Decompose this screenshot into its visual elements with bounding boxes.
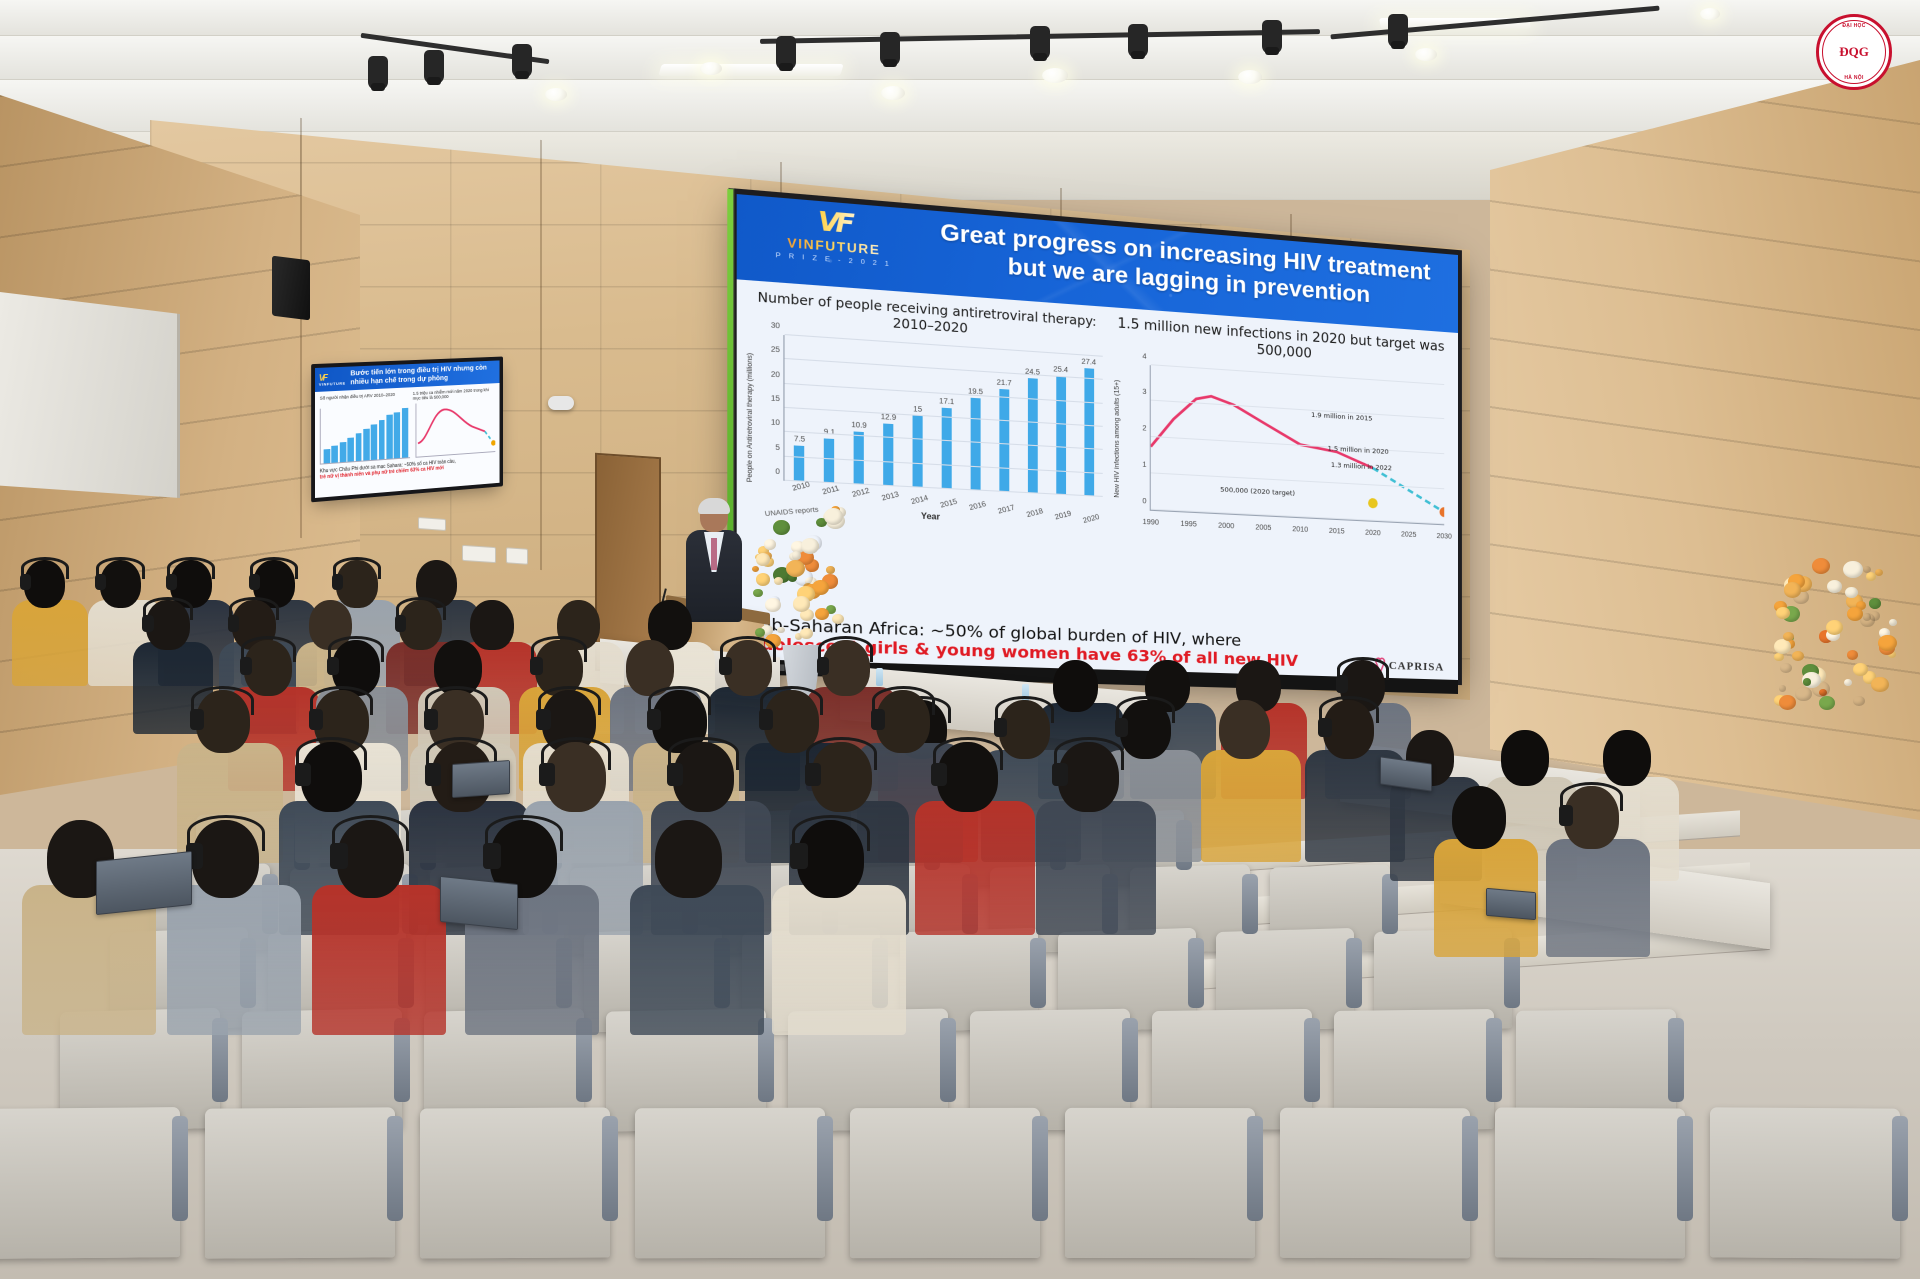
speaker-person <box>684 500 744 620</box>
flower <box>753 589 762 597</box>
flower <box>815 608 829 620</box>
bar-chart-value-label: 17.1 <box>939 398 954 406</box>
headset-earcup <box>536 709 550 730</box>
tv2-bar <box>379 420 385 460</box>
headset-earcup <box>332 574 343 590</box>
bar-chart-ytick: 30 <box>759 321 780 330</box>
headset-earcup <box>142 615 153 632</box>
tv2-vinfuture-logo: VF VINFUTURE <box>319 372 346 386</box>
flower <box>1827 580 1842 593</box>
bar-chart-xtick: 2020 <box>1082 514 1100 525</box>
flower <box>1792 651 1803 661</box>
audience-member-head <box>1053 660 1098 712</box>
line-chart-xtick: 2030 <box>1437 532 1452 540</box>
flower <box>774 577 783 585</box>
flower <box>777 627 784 633</box>
bar-chart-xtick: 2012 <box>851 488 870 500</box>
bar-chart-ytick: 0 <box>759 467 780 476</box>
headset-earcup <box>790 843 808 869</box>
bar-chart-value-label: 12.9 <box>881 414 896 422</box>
secondary-display: VF VINFUTURE Bước tiến lớn trong điều tr… <box>315 360 500 498</box>
bar-chart-ytick: 10 <box>759 419 780 428</box>
seat-armrest <box>1486 1018 1502 1102</box>
downlight <box>1415 48 1437 61</box>
headset-earcup <box>539 763 555 787</box>
flower <box>1869 611 1880 620</box>
flower <box>752 566 759 572</box>
audience-member-head <box>1501 730 1549 786</box>
headset-earcup <box>327 657 340 676</box>
headset-earcup <box>817 657 830 676</box>
flower <box>824 508 843 525</box>
spotlight <box>1262 20 1282 54</box>
tv2-bar <box>386 414 392 459</box>
headset-earcup <box>1336 675 1348 692</box>
line-chart-xtick: 2025 <box>1401 531 1416 539</box>
laptop[interactable] <box>96 851 192 915</box>
flower <box>1853 696 1865 706</box>
tv2-caption-left: Số người nhận điều trị ARV 2010–2020 <box>320 391 408 405</box>
line-chart-xtick: 2000 <box>1218 522 1234 530</box>
vinfuture-logo: VF VINFUTURE P R I Z E - 2 0 2 1 <box>765 203 903 269</box>
flower <box>1847 650 1859 660</box>
audience-member-torso <box>1201 750 1301 862</box>
headset-earcup <box>166 574 177 590</box>
bar-chart-value-label: 7.5 <box>794 435 805 443</box>
tv2-bar <box>324 449 330 463</box>
bar-chart-xtick: 2017 <box>997 504 1016 515</box>
flower <box>756 553 770 566</box>
line-chart-series <box>1151 392 1373 468</box>
audience-member-torso <box>915 801 1035 935</box>
seat-armrest <box>1346 938 1362 1008</box>
flower <box>1783 632 1794 642</box>
tv2-bar <box>402 408 408 458</box>
flower <box>765 598 781 612</box>
headset-earcup <box>530 657 543 676</box>
bar-chart-ytick: 25 <box>759 346 780 355</box>
lecture-hall-photo: ĐẠI HỌC ĐQG HÀ NỘI VF VINFUTURE P R I Z … <box>0 0 1920 1279</box>
laptop-screen <box>453 761 509 797</box>
spotlight <box>1128 24 1148 58</box>
headset-earcup <box>719 657 732 676</box>
whiteboard <box>0 292 180 498</box>
headset-earcup <box>395 615 406 632</box>
audience-member-torso <box>167 885 301 1035</box>
audience-member-head <box>1219 700 1270 759</box>
line-chart-xtick: 2010 <box>1292 525 1308 533</box>
line-chart-plot: 0123419901995200020052010201520202025203… <box>1150 365 1445 525</box>
tv2-bar <box>340 442 346 462</box>
downlight <box>545 88 567 101</box>
flower <box>1812 558 1830 574</box>
seat-armrest <box>172 1116 188 1221</box>
spotlight <box>1030 26 1050 60</box>
line-chart-xtick: 2005 <box>1255 524 1271 532</box>
bar-chart-xtick: 2011 <box>822 485 841 497</box>
laptop-screen <box>441 877 517 929</box>
seat[interactable] <box>0 1107 180 1259</box>
bar-chart-xtick: 2016 <box>968 501 987 513</box>
headset-earcup <box>1115 718 1128 738</box>
spotlight <box>512 44 532 78</box>
tv2-bar-chart <box>320 404 410 465</box>
headset-earcup <box>805 763 821 787</box>
headset-earcup <box>647 709 661 730</box>
laptop[interactable] <box>440 876 518 930</box>
flower <box>764 539 776 550</box>
headset-earcup <box>871 709 885 730</box>
university-logo: ĐẠI HỌC ĐQG HÀ NỘI <box>1816 14 1892 90</box>
wall-outlet <box>506 547 528 565</box>
tv2-bar <box>347 438 353 462</box>
downlight <box>700 62 722 75</box>
bar-chart-xtick: 2010 <box>791 481 811 493</box>
flower <box>1844 679 1852 686</box>
laptop[interactable] <box>1486 888 1536 920</box>
flower <box>1779 685 1786 691</box>
bar-chart-xtick: 2015 <box>939 498 958 510</box>
laptop-screen <box>1487 889 1535 919</box>
caprisa-label: CAPRISA <box>1389 660 1444 674</box>
seat-armrest <box>602 1116 618 1221</box>
wall-outlet <box>462 545 496 563</box>
seat-armrest <box>1677 1116 1693 1221</box>
spotlight <box>1388 14 1408 48</box>
headset-earcup <box>20 574 31 590</box>
downlight <box>1042 68 1068 83</box>
bar-chart-xtick: 2013 <box>881 491 900 503</box>
audience-member-head <box>1452 786 1506 849</box>
bar-chart-ytick: 5 <box>759 443 780 452</box>
tv2-bar <box>371 424 377 460</box>
headset-earcup <box>994 718 1007 738</box>
headset-earcup <box>1318 718 1331 738</box>
line-chart-target-marker <box>1368 497 1378 508</box>
audience-member-torso <box>630 885 764 1035</box>
audience-member-torso <box>12 600 88 686</box>
downlight <box>1238 70 1262 84</box>
flower <box>773 520 790 535</box>
bar-chart-xtick: 2018 <box>1026 507 1045 518</box>
tv2-caption-right: 1.5 triệu ca nhiễm mới năm 2020 trong kh… <box>413 387 496 401</box>
flower <box>1819 696 1835 710</box>
tv2-brand-sub: VINFUTURE <box>319 381 346 386</box>
flower <box>755 628 765 637</box>
flower <box>1889 619 1897 626</box>
flower <box>1779 695 1796 710</box>
seat-armrest <box>1304 1018 1320 1102</box>
seat[interactable] <box>1495 1108 1685 1259</box>
line-chart-xtick: 1990 <box>1142 518 1159 526</box>
downlight <box>1700 8 1720 20</box>
seat-armrest <box>1382 874 1398 934</box>
seat-armrest <box>1188 938 1204 1008</box>
audience-member-torso <box>312 885 446 1035</box>
seat[interactable] <box>420 1108 610 1259</box>
headset-earcup <box>190 709 204 730</box>
bar-chart-value-label: 27.4 <box>1081 358 1096 366</box>
seat-armrest <box>1462 1116 1478 1221</box>
flower <box>826 566 834 573</box>
line-chart-target-marker <box>1440 506 1445 516</box>
line-chart-ytick: 4 <box>1132 352 1147 360</box>
spotlight <box>368 56 388 90</box>
audience-member-head <box>470 600 513 650</box>
tv2-bar <box>363 429 369 460</box>
bar-chart-xtick: 2014 <box>910 494 929 506</box>
flower <box>1780 663 1792 674</box>
tv2-bar <box>332 446 338 463</box>
bar-chart-ytick: 20 <box>759 370 780 379</box>
bar-chart-xlabel: Year <box>921 511 940 522</box>
university-logo-bottom-text: HÀ NỘI <box>1816 75 1892 81</box>
audience-member-torso <box>1036 801 1156 935</box>
headset-earcup <box>1052 763 1068 787</box>
bar-chart-value-label: 15 <box>913 406 922 414</box>
seat[interactable] <box>635 1108 825 1259</box>
headset-earcup <box>931 763 947 787</box>
seat[interactable] <box>1065 1108 1255 1258</box>
secondary-slide: VF VINFUTURE Bước tiến lớn trong điều tr… <box>315 360 500 498</box>
audience-member-head <box>655 820 722 898</box>
line-chart-xtick: 2020 <box>1365 529 1381 537</box>
seat-armrest <box>1892 1116 1908 1221</box>
flower <box>756 573 770 585</box>
ceiling-camera <box>548 396 574 410</box>
seat-armrest <box>817 1116 833 1221</box>
caprisa-logo: CAPRISA <box>1389 660 1444 674</box>
seat[interactable] <box>205 1107 395 1258</box>
flower <box>1795 687 1812 702</box>
headset-earcup <box>425 763 441 787</box>
wall-speaker <box>272 256 310 321</box>
laptop-screen <box>1381 757 1431 790</box>
flower <box>1843 561 1863 578</box>
tv2-bar <box>394 412 400 458</box>
flower <box>825 625 833 632</box>
flower <box>793 596 811 612</box>
seat[interactable] <box>1710 1107 1900 1258</box>
spotlight <box>776 36 796 70</box>
seat[interactable] <box>850 1108 1040 1258</box>
seat-armrest <box>1030 938 1046 1008</box>
headset-earcup <box>240 657 253 676</box>
downlight <box>881 86 905 100</box>
headset-earcup <box>228 615 239 632</box>
spotlight <box>880 32 900 66</box>
bar-chart-plot: 7.59.110.912.91517.119.521.724.525.427.4… <box>783 335 1102 497</box>
flower <box>1869 598 1881 609</box>
flower <box>1863 566 1871 573</box>
bar-chart-value-label: 25.4 <box>1053 366 1068 374</box>
line-chart-ytick: 2 <box>1132 424 1147 432</box>
seat-armrest <box>940 1018 956 1102</box>
bar-chart-value-label: 21.7 <box>997 379 1012 387</box>
audience-member-head <box>1603 730 1651 786</box>
flower-arrangement <box>1770 558 1900 748</box>
university-logo-center-text: ĐQG <box>1816 44 1892 60</box>
line-chart-ylabel: New HIV infections among adults (15+) <box>1113 371 1128 508</box>
spotlight <box>424 50 444 84</box>
headset-earcup <box>309 709 323 730</box>
flower <box>832 614 844 625</box>
headset-earcup <box>1559 805 1573 826</box>
line-chart-ytick: 0 <box>1132 497 1147 505</box>
flower <box>1784 582 1801 597</box>
audience-member-torso <box>1546 839 1650 957</box>
flower <box>1826 620 1843 635</box>
headset-earcup <box>759 709 773 730</box>
tv2-bar <box>355 433 361 461</box>
seat[interactable] <box>1280 1108 1470 1259</box>
tv2-line-chart <box>415 399 495 458</box>
seat-armrest <box>1242 874 1258 934</box>
seat-armrest <box>1668 1018 1684 1102</box>
laptop-screen <box>97 852 191 914</box>
headset-earcup <box>483 843 501 869</box>
line-chart-ytick: 1 <box>1132 461 1147 469</box>
seat-armrest <box>1032 1116 1048 1221</box>
headset-earcup <box>667 763 683 787</box>
line-chart-xtick: 2015 <box>1329 527 1345 535</box>
flower <box>1871 677 1889 692</box>
line-chart-series <box>1373 468 1444 512</box>
seat-armrest <box>387 1116 403 1221</box>
bar-chart-xtick: 2019 <box>1054 511 1072 522</box>
flower <box>1803 678 1812 686</box>
flower <box>1878 635 1897 651</box>
seat-armrest <box>1122 1018 1138 1102</box>
audience-member-torso <box>772 885 906 1035</box>
line-chart-ytick: 3 <box>1132 388 1147 396</box>
flower <box>786 560 805 577</box>
wall-outlet <box>418 517 446 531</box>
seat-armrest <box>1247 1116 1263 1221</box>
flower <box>1875 569 1883 576</box>
headset-earcup <box>249 574 260 590</box>
line-chart: 1.5 million new infections in 2020 but t… <box>1113 316 1448 571</box>
line-chart-xtick: 1995 <box>1180 520 1196 528</box>
headset-earcup <box>424 709 438 730</box>
flower <box>800 628 813 640</box>
headset-earcup <box>95 574 106 590</box>
water-bottle <box>876 668 883 686</box>
headset-earcup <box>330 843 348 869</box>
university-logo-top-text: ĐẠI HỌC <box>1816 23 1892 29</box>
flower <box>801 538 819 554</box>
ceiling-light-strip <box>658 64 843 76</box>
bar-chart-value-label: 10.9 <box>851 422 867 430</box>
flower <box>792 551 801 559</box>
bar-chart-ytick: 15 <box>759 394 780 403</box>
headset-earcup <box>295 763 311 787</box>
laptop[interactable] <box>452 760 510 798</box>
